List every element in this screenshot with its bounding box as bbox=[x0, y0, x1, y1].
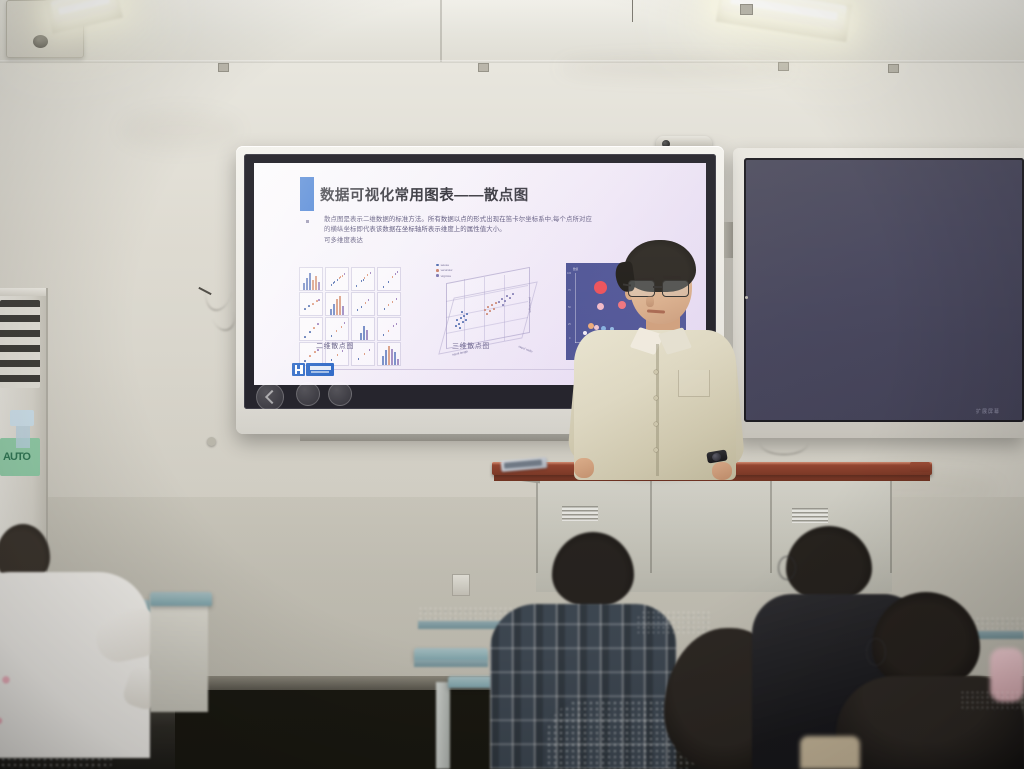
display-watermark: 扩展屏幕 bbox=[976, 408, 1000, 415]
matrix-cell bbox=[377, 317, 401, 341]
wall-knob bbox=[207, 437, 216, 446]
slide-logo bbox=[292, 362, 336, 377]
face-mask-loop bbox=[866, 638, 886, 666]
lens-right bbox=[662, 280, 689, 297]
light-mount bbox=[740, 4, 753, 15]
watch-face bbox=[711, 452, 721, 461]
matrix-cell bbox=[377, 342, 401, 366]
chevron-left-icon bbox=[265, 390, 279, 404]
back-button[interactable] bbox=[256, 383, 284, 409]
desk-surface bbox=[636, 610, 712, 634]
ac-sticker-blue bbox=[10, 410, 34, 426]
matrix-cell bbox=[377, 267, 401, 291]
matrix-cell bbox=[351, 317, 375, 341]
smartboard-button-3[interactable] bbox=[328, 382, 352, 406]
legend-entry: setosa bbox=[436, 263, 453, 267]
instructor bbox=[546, 240, 736, 480]
matrix-cell bbox=[351, 342, 375, 366]
logo-mark-icon bbox=[292, 363, 305, 376]
ceiling bbox=[0, 0, 1024, 62]
ac-sticker-text: AUTO bbox=[3, 451, 30, 463]
legend-entry: virginica bbox=[436, 274, 453, 278]
legend-3d: setosa versicolor virginica bbox=[436, 263, 453, 279]
slide-body-line-1: 散点图是表示二维数据的标准方法。所有数据以点的形式出现在笛卡尔坐标系中,每个点所… bbox=[324, 215, 662, 225]
slide-body-line-2: 的横纵坐标即代表该数据在坐标轴所表示维度上的属性值大小。 bbox=[324, 225, 662, 235]
eyeglasses bbox=[628, 280, 692, 296]
ceiling-wire bbox=[632, 0, 633, 22]
shirt-button bbox=[654, 396, 658, 400]
classroom-photo: AUTO 扩展屏幕 数据可视化常用图表——散点图 bbox=[0, 0, 1024, 769]
phone-screen bbox=[504, 459, 542, 468]
wall-mount bbox=[478, 63, 489, 72]
shirt-button bbox=[654, 370, 658, 374]
face-mask-loop bbox=[778, 556, 796, 580]
figure-caption-right: 三维散点图 bbox=[452, 341, 490, 351]
axis-label-y: sepal width bbox=[518, 344, 533, 353]
matrix-cell bbox=[325, 267, 349, 291]
glasses-bridge bbox=[653, 286, 662, 288]
student-torso bbox=[0, 572, 150, 758]
logo-wordmark bbox=[306, 363, 334, 376]
ceiling-seam bbox=[440, 0, 442, 62]
instructor-nose bbox=[646, 296, 654, 307]
shirt-button bbox=[654, 448, 658, 452]
smartboard-button-2[interactable] bbox=[296, 382, 320, 406]
figure-scatter-matrix bbox=[299, 267, 401, 366]
speaker-dot-icon bbox=[33, 35, 48, 48]
wall-mount bbox=[218, 63, 229, 72]
shirt-button bbox=[654, 422, 658, 426]
matrix-cell bbox=[299, 267, 323, 291]
instructor-left-hand bbox=[574, 458, 594, 478]
wall-mount bbox=[888, 64, 899, 73]
cabinet-vent bbox=[562, 506, 598, 521]
shirt-pocket bbox=[678, 370, 710, 397]
figure-3d-scatter: setosa versicolor virginica bbox=[432, 261, 550, 366]
desk-surface bbox=[960, 690, 1024, 710]
shirt-placket bbox=[656, 344, 659, 476]
figure-caption-left: 二维散点图 bbox=[316, 341, 354, 351]
wall-mount bbox=[778, 62, 789, 71]
instructor-right-hand bbox=[712, 462, 732, 480]
axis-label-z: petal length bbox=[528, 297, 532, 313]
slide-title: 数据可视化常用图表——散点图 bbox=[320, 184, 529, 205]
ir-sensor-icon bbox=[745, 296, 748, 299]
matrix-cell bbox=[299, 317, 323, 341]
wall-stain bbox=[560, 60, 790, 76]
wall-socket[interactable] bbox=[452, 574, 470, 596]
secondary-display-panel[interactable]: 扩展屏幕 bbox=[744, 158, 1024, 422]
legend-entry: versicolor bbox=[436, 268, 453, 272]
matrix-cell bbox=[299, 292, 323, 316]
ac-sticker-small bbox=[16, 426, 30, 448]
desk-surface bbox=[150, 592, 212, 606]
matrix-cell bbox=[325, 292, 349, 316]
title-accent-bar bbox=[300, 177, 314, 211]
ac-vent-louvers bbox=[0, 300, 40, 388]
matrix-cell bbox=[351, 267, 375, 291]
desk-edge-left bbox=[420, 606, 430, 626]
secondary-display[interactable]: 扩展屏幕 bbox=[733, 148, 1024, 438]
desk-leg bbox=[436, 682, 450, 769]
wall-stain bbox=[120, 110, 240, 150]
bag bbox=[800, 736, 860, 769]
matrix-cell bbox=[377, 292, 401, 316]
matrix-cell bbox=[351, 292, 375, 316]
bullet-marker bbox=[306, 220, 309, 223]
desk-partition bbox=[150, 596, 208, 712]
ceiling-wall-joint bbox=[0, 60, 1024, 63]
matrix-cell bbox=[325, 317, 349, 341]
ac-top bbox=[0, 288, 46, 296]
display-cable bbox=[760, 432, 808, 455]
cabinet-vent bbox=[792, 508, 828, 523]
lectern-right-end bbox=[910, 462, 930, 472]
lens-left bbox=[628, 280, 655, 297]
